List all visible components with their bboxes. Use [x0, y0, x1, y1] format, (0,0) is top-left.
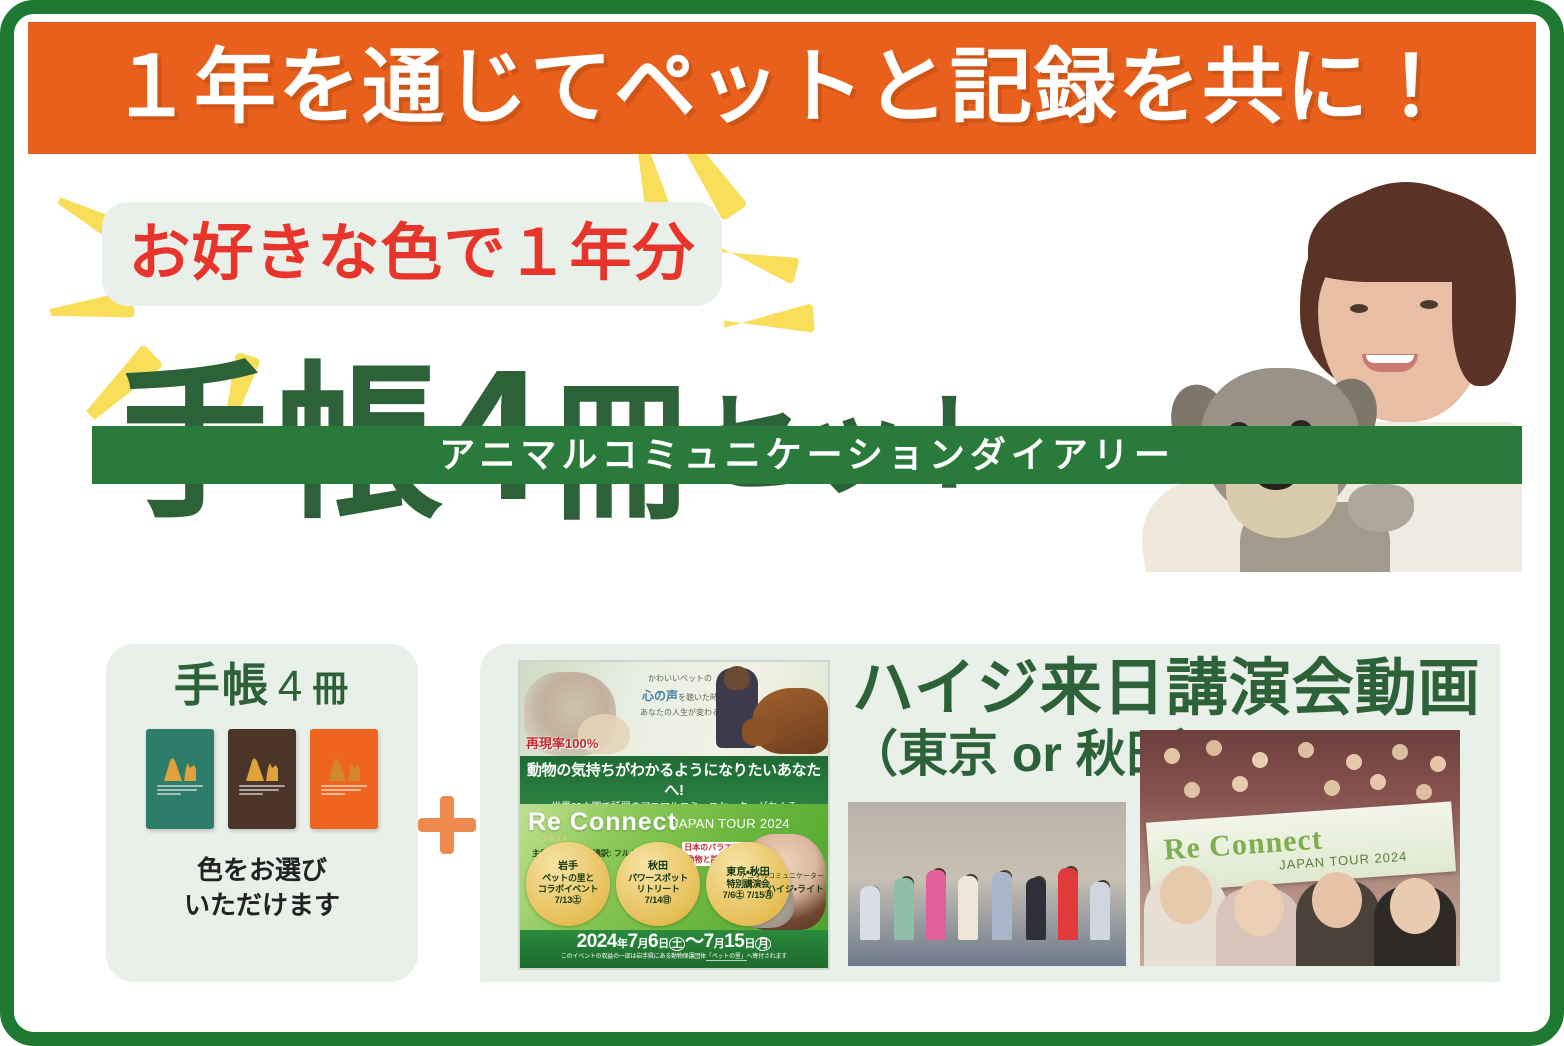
headline-bar: １年を通じてペットと記録を共に！ [28, 22, 1536, 154]
subtitle-bar: アニマルコミュニケーションダイアリー [92, 426, 1522, 484]
event-date: 7/13㊏ [555, 895, 582, 907]
date-start-day: 6 [648, 931, 658, 952]
portrait-eye-right [1420, 300, 1438, 309]
flyer-tagline-line2b: を聴いた時 [678, 693, 718, 702]
flyer-fine-print: このイベントの収益の一部は岩手県にある動物保護団体「ペットの里」へ寄付されます [520, 953, 828, 962]
notebook-teal [146, 729, 214, 829]
flyer-green-band: 動物の気持ちがわかるようになりたいあなたへ! 世界23カ国で話題のアニマルコミュ… [520, 756, 828, 804]
flyer-tagline-emphasis: 心の声 [642, 689, 678, 703]
date-day-unit: 日 [658, 938, 669, 950]
event-name-line1: ペットの里と [542, 873, 594, 884]
event-circle-iwate: 岩手 ペットの里と コラボイベント 7/13㊏ [526, 842, 610, 926]
notebook-card: 手帳4冊 [106, 644, 418, 982]
color-choice-badge: お好きな色で１年分 [102, 202, 722, 306]
dog-paw [1348, 484, 1414, 532]
notebook-note-line2: いただけます [184, 888, 340, 923]
sparkle-ray-icon [712, 235, 800, 285]
notebook-note-line1: 色をお選び [184, 853, 340, 888]
flyer-date-footer: 2024年7月6日土〜7月15日月 このイベントの収益の一部は岩手県にある動物保… [520, 930, 828, 968]
event-pref: 秋田 [648, 861, 668, 873]
flyer-hero: かわいいペットの 心の声を聴いた時 あなたの人生が変わる 再現率100% [520, 662, 828, 756]
audience-photo: Re Connect JAPAN TOUR 2024 [1140, 730, 1460, 966]
dog-cat-logo-icon [240, 755, 284, 781]
fine-print-a: このイベントの収益の一部は岩手県にある動物保護団体 [561, 954, 706, 960]
notebook-note: 色をお選び いただけます [184, 853, 340, 923]
notebook-title-number: 4 [278, 662, 304, 711]
video-offer-title: ハイジ来日講演会動画 [852, 654, 1481, 723]
bottom-section: 手帳4冊 [14, 638, 1550, 1036]
sparkle-ray-icon [723, 303, 815, 339]
date-end-month: 7 [704, 931, 714, 952]
notebook-caption-lines [157, 785, 203, 797]
group-photo [848, 802, 1126, 966]
plus-icon [418, 796, 476, 854]
date-start-month: 7 [627, 931, 637, 952]
dog-cat-logo-icon [158, 755, 202, 781]
flyer-logo: Re Connect [528, 808, 677, 837]
date-range-mark: 〜 [685, 931, 704, 952]
event-name-line2: コラボイベント [538, 884, 598, 895]
date-end-day: 15 [724, 931, 744, 952]
date-year-unit: 年 [617, 938, 628, 950]
promo-banner: １年を通じてペットと記録を共に！ お好きな色で１年分 手帳 4 冊 セット [0, 0, 1564, 1046]
notebook-card-title: 手帳4冊 [174, 662, 351, 709]
notebook-caption-lines [239, 785, 285, 797]
portrait-eye-left [1350, 304, 1368, 313]
flyer-horse-photo [752, 688, 828, 754]
badge-text: お好きな色で１年分 [128, 223, 695, 285]
dog-cat-logo-icon [322, 755, 366, 781]
portrait-hair-side [1452, 216, 1516, 386]
fine-print-b: へ寄付されます [747, 954, 788, 960]
notebook-covers [146, 729, 378, 829]
flyer-date-line: 2024年7月6日土〜7月15日月 [520, 932, 828, 953]
flyer-green-line1: 動物の気持ちがわかるようになりたいあなたへ! [520, 761, 828, 800]
event-pref: 岩手 [558, 861, 578, 873]
event-flyer-image: かわいいペットの 心の声を聴いた時 あなたの人生が変わる 再現率100% 動物の… [518, 660, 830, 970]
notebook-title-main: 手帳 [174, 659, 270, 711]
flyer-speaker-role: アニマルコミュニケーター [740, 873, 824, 880]
event-name-line1: パワースポット [628, 873, 688, 884]
event-name-line2: リトリート [636, 884, 679, 895]
subtitle-text: アニマルコミュニケーションダイアリー [439, 437, 1175, 473]
flyer-tour-label: JAPAN TOUR 2024 [672, 816, 790, 831]
date-end-weekday: 月 [755, 937, 772, 951]
flyer-rate-badge: 再現率100% [526, 733, 598, 752]
video-offer-card: かわいいペットの 心の声を聴いた時 あなたの人生が変わる 再現率100% 動物の… [480, 644, 1500, 982]
date-year: 2024 [577, 931, 617, 952]
flyer-speaker-name: ハイジ・ライト [740, 883, 824, 897]
headline-text: １年を通じてペットと記録を共に！ [110, 47, 1454, 129]
notebook-caption-lines [321, 785, 367, 797]
notebook-title-unit: 冊 [312, 668, 350, 709]
date-month-unit: 月 [638, 938, 649, 950]
speaker-portrait-photo [1122, 172, 1522, 572]
fine-print-link: 「ペットの里」 [706, 954, 747, 961]
event-circle-akita: 秋田 パワースポット リトリート 7/14㊐ [616, 842, 700, 926]
flyer-speaker-credit: アニマルコミュニケーター ハイジ・ライト [740, 872, 824, 896]
date-day-unit-2: 日 [744, 938, 755, 950]
notebook-orange [310, 729, 378, 829]
date-month-unit-2: 月 [714, 938, 725, 950]
event-date: 7/14㊐ [645, 895, 672, 907]
date-start-weekday: 土 [669, 937, 686, 951]
flyer-body: Re Connect リコネクト JAPAN TOUR 2024 主催: 翔初美… [520, 804, 828, 930]
notebook-brown [228, 729, 296, 829]
